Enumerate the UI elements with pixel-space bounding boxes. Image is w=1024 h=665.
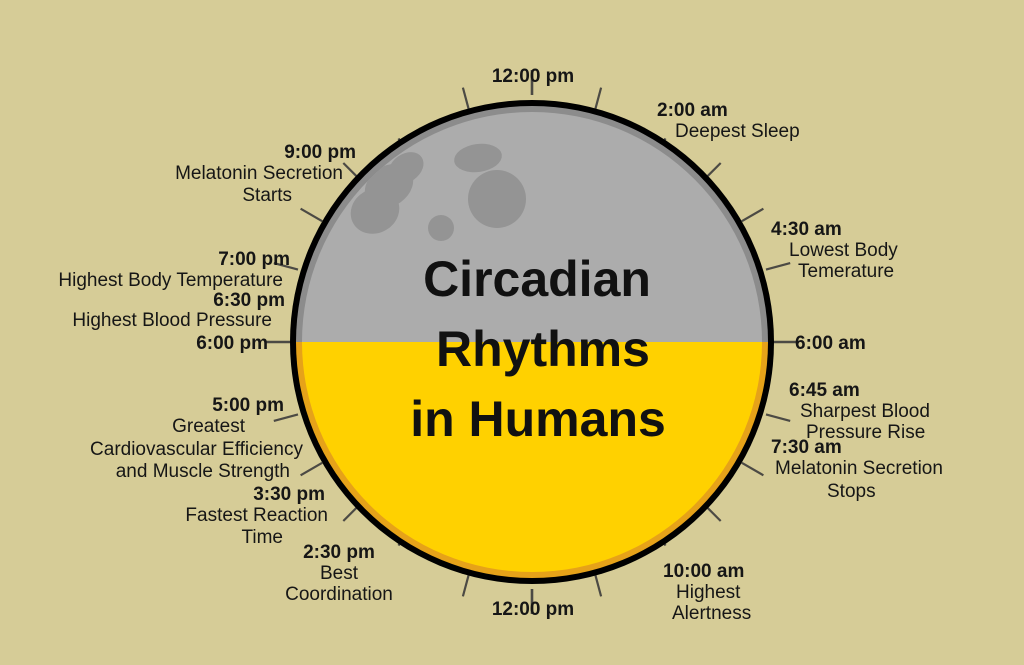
label-highest-alertness-desc-2: Alertness [672,603,751,624]
center-title: Circadian Rhythms in Humans [410,251,666,447]
label-six-am-time: 6:00 am [795,333,866,354]
circadian-rhythm-infographic: Circadian Rhythms in Humans 12:00 pm 2:0… [0,0,1024,665]
label-melatonin-secretion-starts-desc-1: Melatonin Secretion [175,163,343,184]
label-fastest-reaction-time-desc-1: Fastest Reaction [185,505,328,526]
label-melatonin-secretion-stops-desc-1: Melatonin Secretion [775,458,943,479]
label-best-coordination-desc-2: Coordination [285,584,393,605]
label-bottom-noon: 12:00 pm [492,599,574,620]
label-greatest-cardiovascular-efficiency-desc-3: and Muscle Strength [116,461,290,482]
label-highest-alertness-desc-1: Highest [676,582,741,603]
label-highest-alertness: 10:00 am Highest Alertness [663,561,751,624]
moon-crater-6 [428,215,454,241]
label-melatonin-secretion-starts-time: 9:00 pm [284,142,356,163]
label-sharpest-blood-pressure-rise-time: 6:45 am [789,380,860,401]
label-lowest-body-temperature-time: 4:30 am [771,219,842,240]
title-line-1: Circadian [423,251,651,307]
label-six-pm-time: 6:00 pm [196,333,268,354]
label-greatest-cardiovascular-efficiency-desc-1: Greatest [172,416,246,437]
label-sharpest-blood-pressure-rise-desc-1: Sharpest Blood [800,401,930,422]
label-best-coordination-time: 2:30 pm [303,542,375,563]
label-six-am: 6:00 am [795,333,866,354]
label-greatest-cardiovascular-efficiency-time: 5:00 pm [212,395,284,416]
label-highest-blood-pressure-time: 6:30 pm [213,290,285,311]
label-greatest-cardiovascular-efficiency-desc-2: Cardiovascular Efficiency [90,439,303,460]
label-top-noon-time: 12:00 pm [492,66,574,87]
label-highest-blood-pressure-desc: Highest Blood Pressure [72,310,272,331]
label-melatonin-secretion-starts-desc-2: Starts [242,185,292,206]
label-deepest-sleep-time: 2:00 am [657,100,728,121]
label-highest-body-temperature-desc: Highest Body Temperature [58,270,283,291]
label-fastest-reaction-time-time: 3:30 pm [253,484,325,505]
label-top-noon: 12:00 pm [492,66,574,87]
title-line-3: in Humans [410,391,666,447]
label-highest-body-temperature-time: 7:00 pm [218,249,290,270]
label-highest-alertness-time: 10:00 am [663,561,744,582]
label-lowest-body-temperature-desc-1: Lowest Body [789,240,898,261]
label-best-coordination-desc-1: Best [320,563,359,584]
label-deepest-sleep-desc: Deepest Sleep [675,121,800,142]
label-melatonin-secretion-stops-time: 7:30 am [771,437,842,458]
moon-crater-5 [468,170,526,228]
label-melatonin-secretion-stops-desc-2: Stops [827,481,876,502]
label-fastest-reaction-time-desc-2: Time [241,527,283,548]
label-lowest-body-temperature-desc-2: Temerature [798,261,894,282]
title-line-2: Rhythms [436,321,650,377]
label-six-pm: 6:00 pm [196,333,268,354]
circadian-clock-diagram: Circadian Rhythms in Humans 12:00 pm 2:0… [0,0,1024,665]
label-bottom-noon-time: 12:00 pm [492,599,574,620]
